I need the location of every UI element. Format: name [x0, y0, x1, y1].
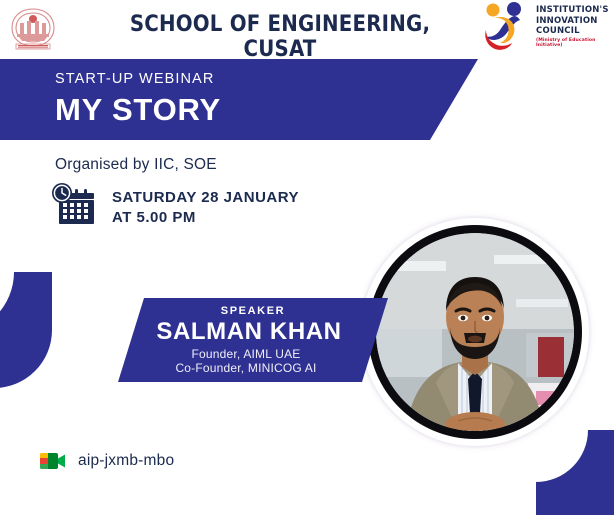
- meeting-link-row[interactable]: aip-jxmb-mbo: [40, 450, 174, 472]
- calendar-clock-icon: [50, 182, 96, 226]
- iic-logo-icon: [478, 2, 532, 52]
- speaker-role-1: Founder, AIML UAE: [118, 347, 374, 361]
- event-date: SATURDAY 28 JANUARY: [112, 188, 299, 208]
- event-banner: START-UP WEBINAR MY STORY: [0, 59, 478, 140]
- organiser-text: Organised by IIC, SOE: [55, 156, 217, 174]
- meeting-code[interactable]: aip-jxmb-mbo: [78, 452, 174, 470]
- cusat-seal-icon: [6, 4, 60, 52]
- page-title: SCHOOL OF ENGINEERING, CUSAT: [100, 12, 460, 62]
- banner-title: MY STORY: [55, 92, 221, 128]
- speaker-label: SPEAKER: [118, 305, 388, 317]
- webinar-poster: SCHOOL OF ENGINEERING, CUSAT INSTITUTION…: [0, 0, 614, 515]
- avatar: [376, 233, 574, 431]
- speaker-role-2: Co-Founder, MINICOG AI: [118, 361, 374, 375]
- iic-line-2: INNOVATION: [536, 16, 614, 27]
- banner-kicker: START-UP WEBINAR: [55, 71, 214, 87]
- speaker-photo-frame: [349, 206, 601, 458]
- iic-line-1: INSTITUTION'S: [536, 5, 614, 16]
- iic-subtitle: (Ministry of Education Initiative): [536, 38, 614, 48]
- decorative-arc-left: [0, 272, 92, 407]
- iic-line-3: COUNCIL: [536, 26, 614, 37]
- speaker-name: SALMAN KHAN: [118, 318, 380, 346]
- google-meet-icon: [40, 450, 66, 472]
- iic-wordmark: INSTITUTION'S INNOVATION COUNCIL (Minist…: [536, 5, 614, 48]
- poster-header: SCHOOL OF ENGINEERING, CUSAT INSTITUTION…: [0, 0, 614, 56]
- speaker-name-banner: SPEAKER SALMAN KHAN Founder, AIML UAE Co…: [118, 298, 388, 382]
- event-time: AT 5.00 PM: [112, 208, 299, 228]
- event-datetime: SATURDAY 28 JANUARY AT 5.00 PM: [112, 188, 299, 228]
